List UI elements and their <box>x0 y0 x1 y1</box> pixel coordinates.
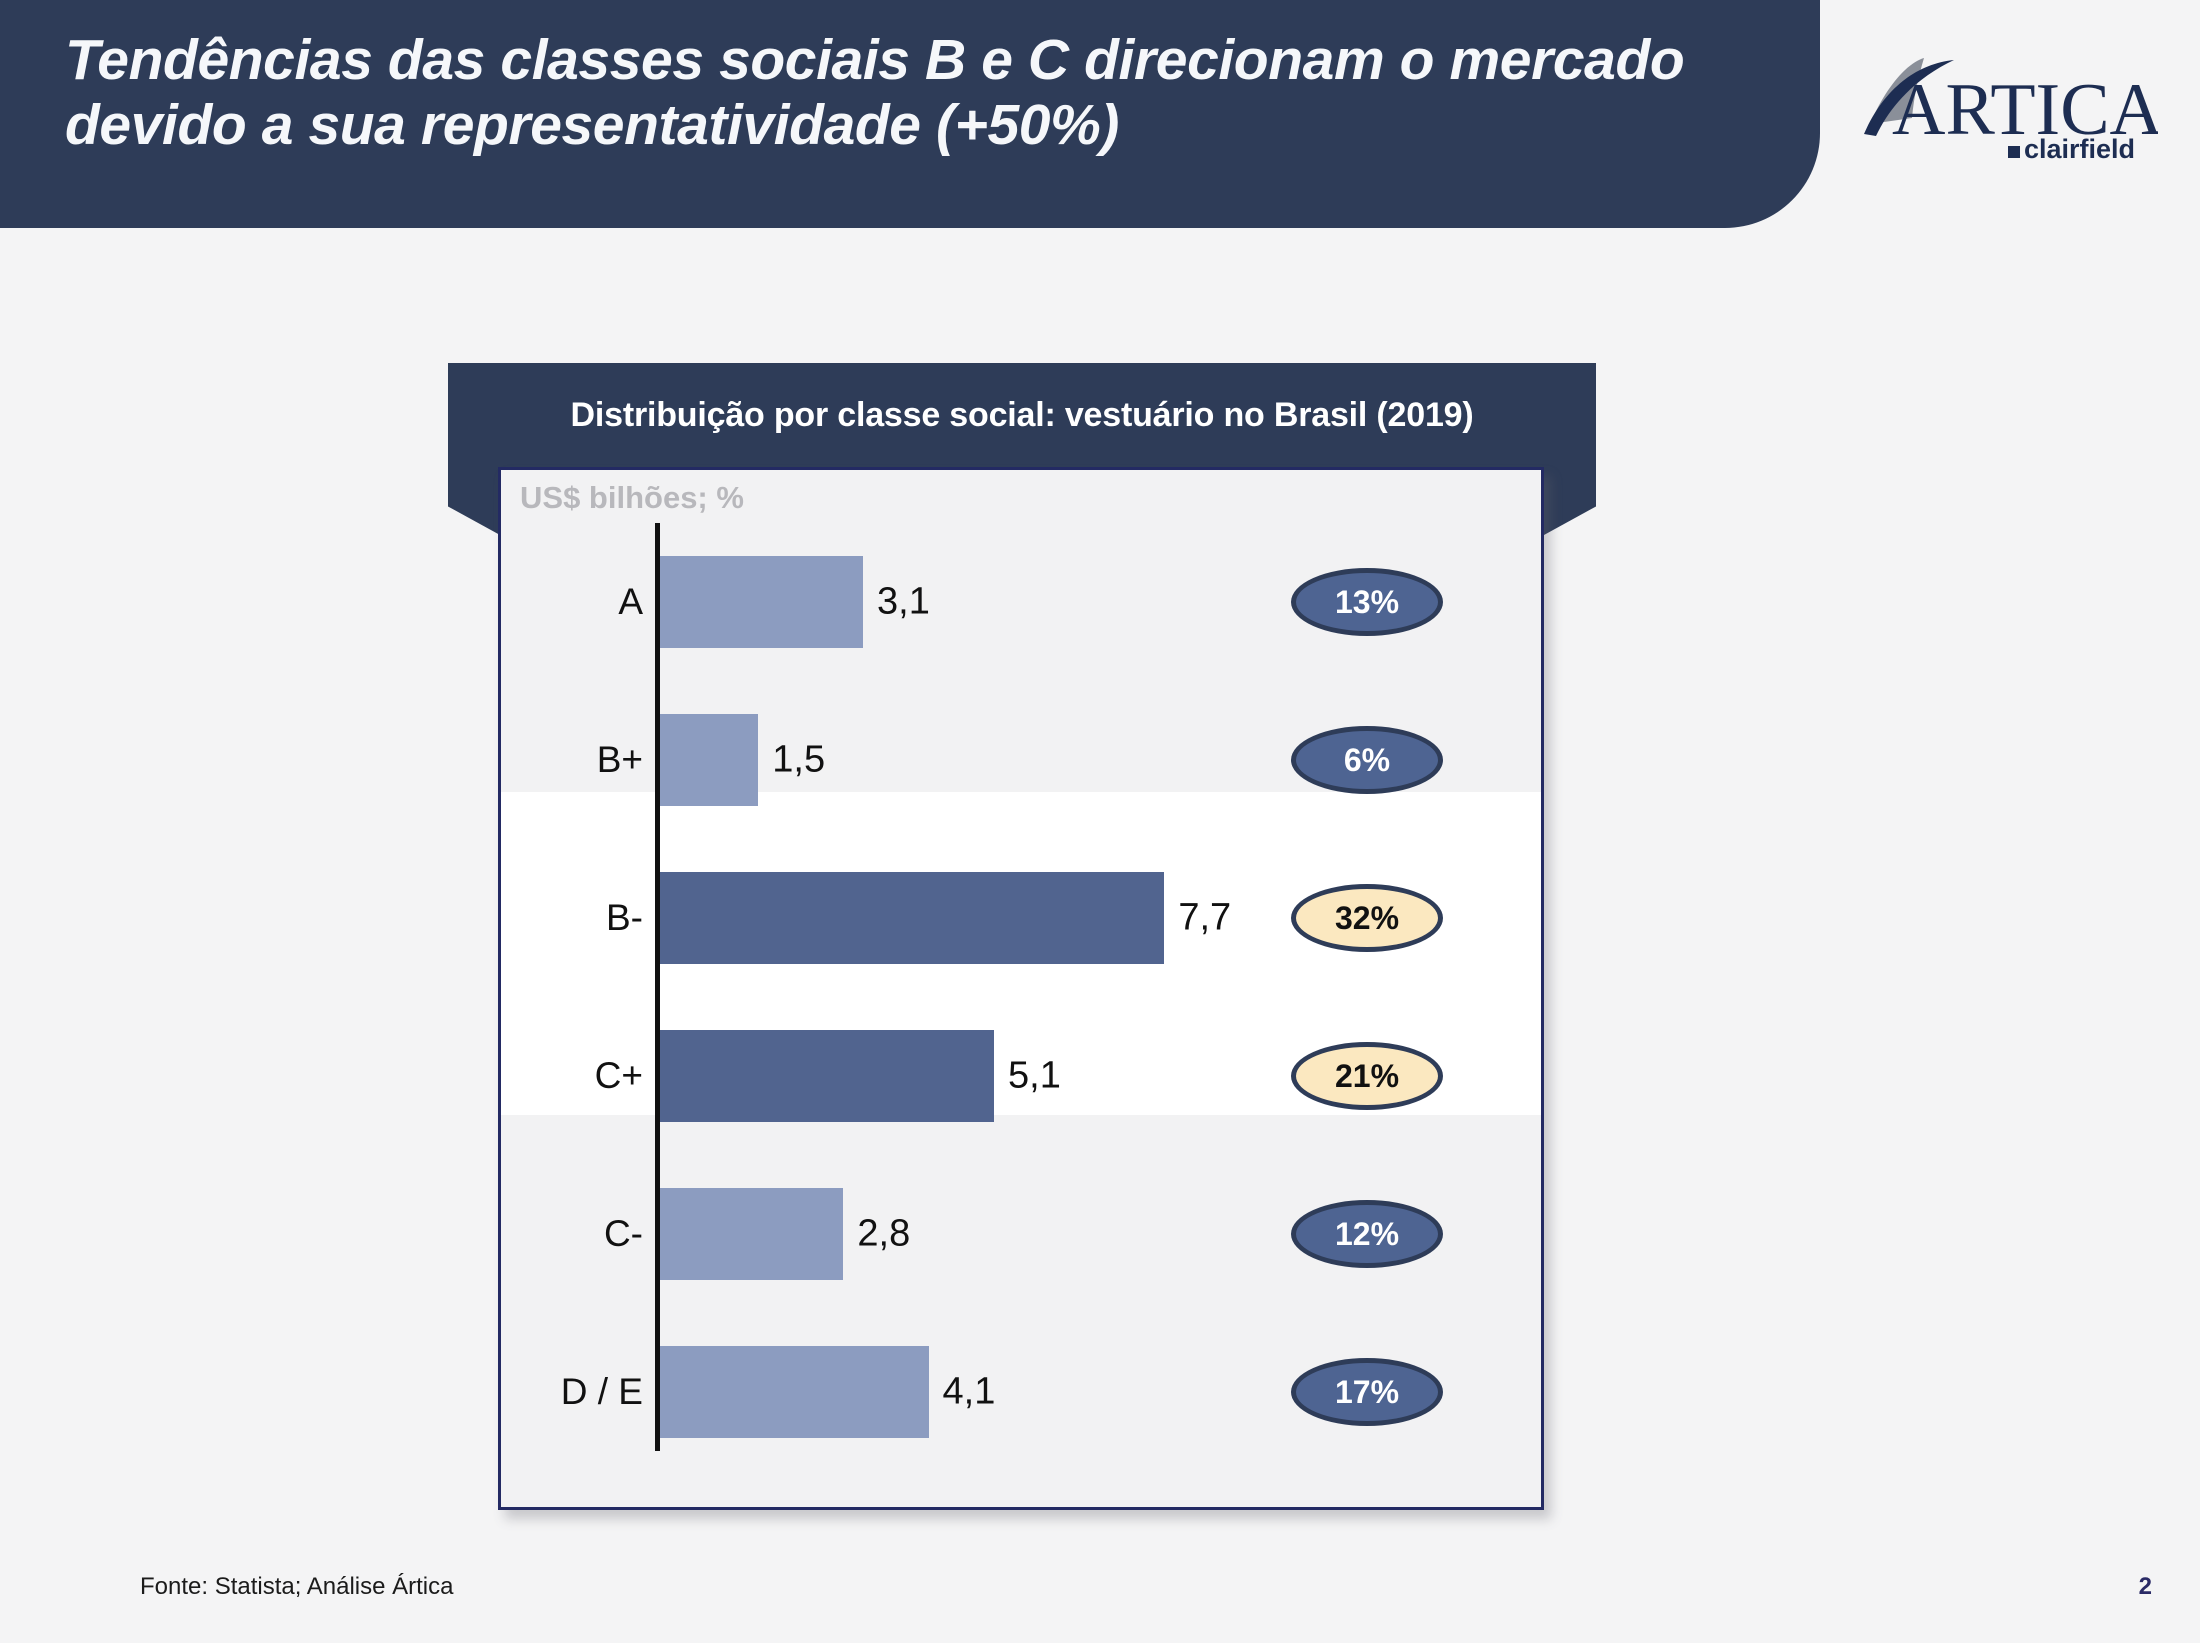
bar-value-label: 2,8 <box>857 1213 910 1256</box>
ribbon-tail-left <box>448 467 500 535</box>
bar-value-label: 7,7 <box>1178 897 1231 940</box>
bar-value-label: 4,1 <box>943 1371 996 1414</box>
bar <box>660 1188 843 1280</box>
logo-tagline: clairfield <box>2024 134 2135 164</box>
chart-header-banner: Distribuição por classe social: vestuári… <box>448 363 1596 467</box>
ribbon-tail-right <box>1544 467 1596 535</box>
share-pill: 17% <box>1291 1358 1443 1426</box>
bar-category-label: A <box>618 581 643 623</box>
bar-category-label: B- <box>606 897 643 939</box>
footer-source: Fonte: Statista; Análise Ártica <box>140 1573 454 1601</box>
bar-category-label: D / E <box>561 1371 643 1413</box>
title-banner: Tendências das classes sociais B e C dir… <box>0 0 1820 228</box>
share-pill: 6% <box>1291 726 1443 794</box>
page-number: 2 <box>2139 1573 2152 1601</box>
chart-title: Distribuição por classe social: vestuári… <box>571 396 1474 435</box>
chart-subtitle: US$ bilhões; % <box>520 480 744 516</box>
share-pill: 21% <box>1291 1042 1443 1110</box>
bar-value-label: 3,1 <box>877 581 930 624</box>
logo-dot-icon <box>2008 146 2020 158</box>
share-pill: 32% <box>1291 884 1443 952</box>
chart-plot-panel: US$ bilhões; % A3,113%B+1,56%B-7,732%C+5… <box>498 467 1544 1510</box>
bar-category-label: C- <box>604 1213 643 1255</box>
bar-value-label: 1,5 <box>772 739 825 782</box>
y-axis-line <box>655 523 660 1451</box>
chart-card: Distribuição por classe social: vestuári… <box>448 363 1596 1513</box>
bar <box>660 1030 994 1122</box>
share-pill: 13% <box>1291 568 1443 636</box>
bar-category-label: C+ <box>595 1055 643 1097</box>
share-pill: 12% <box>1291 1200 1443 1268</box>
slide-canvas: Tendências das classes sociais B e C dir… <box>0 0 2200 1643</box>
bar-category-label: B+ <box>597 739 643 781</box>
artica-clairfield-logo: ÁRTICA clairfield <box>1858 48 2158 166</box>
page-title: Tendências das classes sociais B e C dir… <box>65 28 1755 158</box>
bar-value-label: 5,1 <box>1008 1055 1061 1098</box>
bar <box>660 556 863 648</box>
bar <box>660 714 758 806</box>
bar <box>660 1346 929 1438</box>
logo-svg: ÁRTICA clairfield <box>1858 48 2158 166</box>
bar <box>660 872 1164 964</box>
